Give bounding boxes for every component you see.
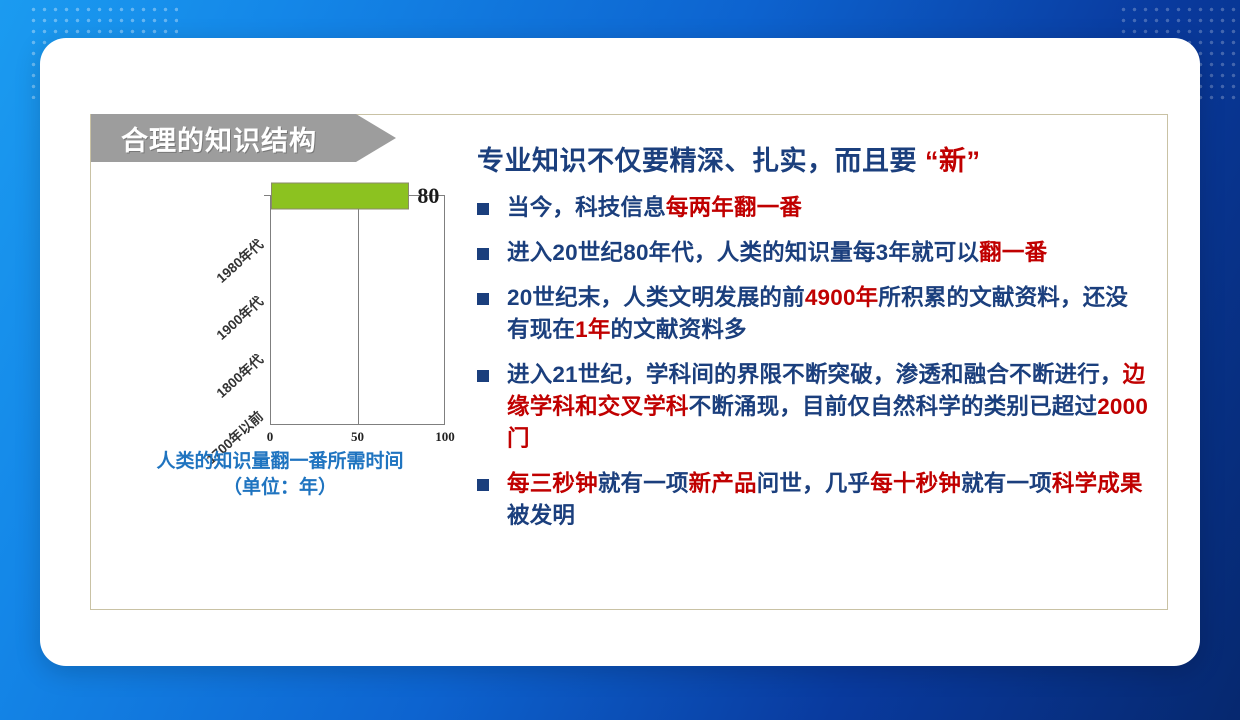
text-run-normal: 就有一项: [598, 471, 689, 496]
chart-bar: [271, 183, 409, 210]
section-tag: 合理的知识结构: [91, 114, 396, 162]
section-tag-label: 合理的知识结构: [121, 119, 317, 158]
bullet-square-icon: [477, 293, 489, 305]
bullet-square-icon: [477, 203, 489, 215]
text-run-highlight: 每三秒钟: [507, 471, 598, 496]
text-column: 专业知识不仅要精深、扎实，而且要 “新” 当今，科技信息每两年翻一番进入20世纪…: [471, 129, 1149, 544]
text-run-highlight: 每十秒钟: [870, 471, 961, 496]
chart-x-axis: 050100: [270, 429, 445, 451]
text-run-highlight: 新产品: [689, 471, 757, 496]
bullet-item-1: 当今，科技信息每两年翻一番: [471, 192, 1149, 224]
text-run-highlight: 4900年: [805, 285, 879, 310]
bullet-item-5: 每三秒钟就有一项新产品问世，几乎每十秒钟就有一项科学成果被发明: [471, 468, 1149, 532]
text-run-normal: 的文献资料多: [611, 317, 747, 342]
chart-category-label: 1900年代: [138, 291, 267, 410]
bullet-square-icon: [477, 370, 489, 382]
chart-caption-line2: （单位：年）: [105, 475, 455, 501]
chart-y-tick: [264, 195, 271, 197]
text-run-highlight: 每两年翻一番: [666, 195, 802, 220]
bullet-square-icon: [477, 248, 489, 260]
text-run-highlight: 1年: [575, 317, 610, 342]
text-run-normal: 当今，科技信息: [507, 195, 666, 220]
chart-x-tick-label: 100: [435, 429, 455, 445]
chart-caption: 人类的知识量翻一番所需时间 （单位：年）: [105, 449, 455, 501]
bar-chart: 3105080 050100 1980年代1900年代1800年代1700年以前…: [105, 177, 455, 567]
text-run-highlight: 科学成果: [1052, 471, 1143, 496]
text-run-normal: 就有一项: [961, 471, 1052, 496]
chart-plot-area: 3105080: [270, 195, 445, 425]
text-run-normal: 专业知识不仅要精深、扎实，而且要: [477, 146, 925, 176]
chart-x-tick-label: 0: [267, 429, 274, 445]
text-run-normal: 进入20世纪80年代，人类的知识量每3年就可以: [507, 240, 979, 265]
bullet-item-3: 20世纪末，人类文明发展的前4900年所积累的文献资料，还没有现在1年的文献资料…: [471, 282, 1149, 346]
text-run-normal: 进入21世纪，学科间的界限不断突破，渗透和融合不断进行，: [507, 362, 1123, 387]
bullet-square-icon: [477, 479, 489, 491]
slide-root: 合理的知识结构 3105080 050100 1980年代1900年代1800年…: [0, 0, 1240, 720]
slide-card: 合理的知识结构 3105080 050100 1980年代1900年代1800年…: [40, 38, 1200, 666]
text-run-normal: 不断涌现，目前仅自然科学的类别已超过: [689, 394, 1098, 419]
chart-column: 3105080 050100 1980年代1900年代1800年代1700年以前…: [105, 177, 455, 567]
text-run-highlight: 翻一番: [979, 240, 1047, 265]
text-run-normal: 问世，几乎: [757, 471, 871, 496]
chart-caption-line1: 人类的知识量翻一番所需时间: [105, 449, 455, 475]
chart-midline: [358, 196, 360, 424]
content-panel: 合理的知识结构 3105080 050100 1980年代1900年代1800年…: [90, 114, 1168, 610]
chart-category-label: 1980年代: [138, 233, 267, 352]
bullet-list: 当今，科技信息每两年翻一番进入20世纪80年代，人类的知识量每3年就可以翻一番2…: [471, 192, 1149, 531]
headline: 专业知识不仅要精深、扎实，而且要 “新”: [477, 139, 1149, 178]
chart-bar-value-label: 80: [417, 183, 439, 209]
chart-x-tick-label: 50: [351, 429, 364, 445]
text-run-normal: 20世纪末，人类文明发展的前: [507, 285, 805, 310]
bullet-item-4: 进入21世纪，学科间的界限不断突破，渗透和融合不断进行，边缘学科和交叉学科不断涌…: [471, 359, 1149, 455]
bullet-item-2: 进入20世纪80年代，人类的知识量每3年就可以翻一番: [471, 237, 1149, 269]
text-run-highlight: “新”: [925, 146, 981, 176]
text-run-normal: 被发明: [507, 503, 575, 528]
